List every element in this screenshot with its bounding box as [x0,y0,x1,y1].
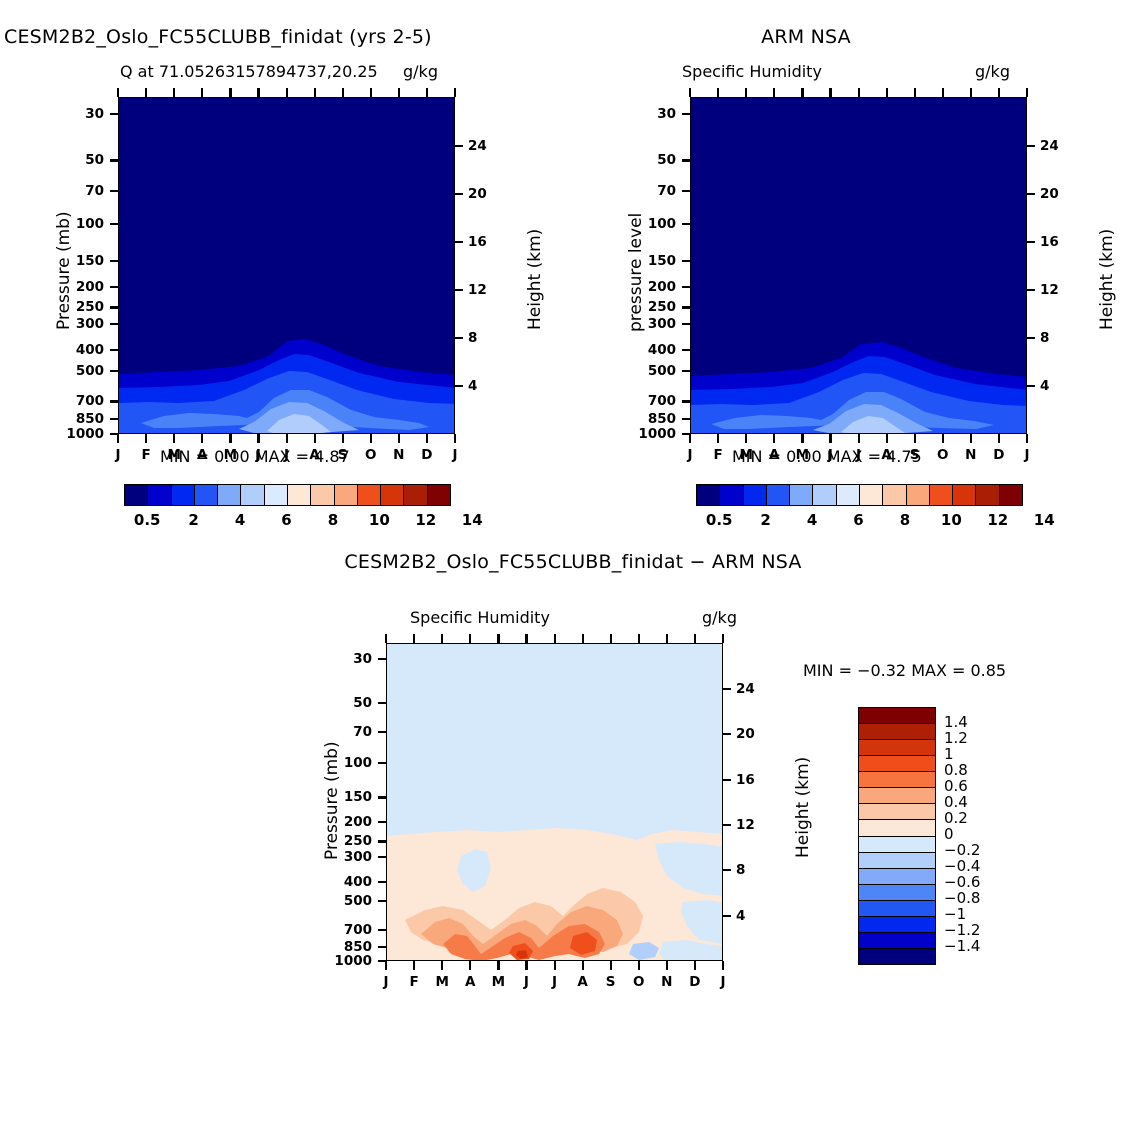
pressure-tick-mark [378,821,386,823]
panel-model-contour-field [119,98,455,434]
height-tick-label: 8 [736,862,745,878]
month-tick-mark [886,434,888,443]
month-tick-mark [666,634,668,643]
month-tick-mark [1026,434,1028,443]
colorbar-label: 4 [235,511,245,529]
colorbar-cell [930,485,953,505]
month-label: M [435,974,448,990]
pressure-tick-label: 850 [648,411,676,427]
height-tick-label: 24 [736,681,755,697]
month-tick-mark [385,961,387,970]
colorbar-cell [859,885,935,901]
pressure-tick-label: 700 [344,922,372,938]
panel-difference-ylabel-right: Height (km) [793,757,813,858]
pressure-tick-mark [110,286,118,288]
colorbar-cell [859,740,935,756]
colorbar-cell [859,837,935,853]
month-label: M [224,447,237,463]
month-label: J [720,974,725,990]
pressure-tick-label: 300 [648,316,676,332]
height-tick-mark [455,289,463,291]
colorbar-cell [859,917,935,933]
month-label: J [383,974,388,990]
colorbar-cell [859,708,935,724]
month-tick-mark [610,634,612,643]
pressure-tick-label: 70 [353,724,372,740]
panel-difference-colorbar[interactable] [858,707,936,965]
month-label: A [769,447,779,463]
colorbar-cell [859,949,935,964]
pressure-tick-label: 850 [76,411,104,427]
colorbar-cell [381,485,404,505]
month-tick-mark [145,434,147,443]
month-label: J [452,447,457,463]
colorbar-cell [859,901,935,917]
colorbar-cell [859,869,935,885]
month-tick-mark [1026,88,1028,97]
colorbar-cell [241,485,264,505]
pressure-tick-mark [110,418,118,420]
pressure-tick-mark [110,323,118,325]
month-label: J [524,974,529,990]
month-label: S [338,447,348,463]
pressure-tick-mark [378,946,386,948]
colorbar-cell [859,933,935,949]
pressure-tick-label: 30 [353,651,372,667]
pressure-tick-label: 250 [344,833,372,849]
height-tick-label: 20 [468,186,487,202]
panel-obs-title: ARM NSA [761,26,851,48]
panel-difference-ylabel-left: Pressure (mb) [322,741,342,860]
month-tick-mark [469,634,471,643]
panel-model-colorbar[interactable] [124,484,451,506]
pressure-tick-mark [110,159,118,161]
pressure-tick-label: 100 [76,216,104,232]
month-label: O [633,974,644,990]
colorbar-cell [767,485,790,505]
month-tick-mark [342,434,344,443]
month-tick-mark [257,88,259,97]
pressure-tick-mark [682,370,690,372]
colorbar-cell [859,788,935,804]
month-tick-mark [858,434,860,443]
month-label: S [606,974,616,990]
height-tick-mark [455,337,463,339]
month-label: J [856,447,861,463]
month-label: J [687,447,692,463]
colorbar-label: 10 [941,511,962,529]
pressure-tick-mark [378,840,386,842]
month-tick-mark [829,434,831,443]
height-tick-mark [455,385,463,387]
month-label: A [197,447,207,463]
pressure-tick-label: 300 [344,849,372,865]
colorbar-cell [428,485,450,505]
colorbar-label: 2 [760,511,770,529]
pressure-tick-label: 500 [76,363,104,379]
pressure-tick-mark [378,731,386,733]
colorbar-cell [790,485,813,505]
panel-obs-contour-field [691,98,1027,434]
month-label: F [713,447,722,463]
month-tick-mark [717,434,719,443]
pressure-tick-label: 250 [648,299,676,315]
colorbar-cell [907,485,930,505]
colorbar-cell [172,485,195,505]
month-tick-mark [722,634,724,643]
panel-difference-units: g/kg [702,608,737,627]
colorbar-label: 14 [1034,511,1055,529]
pressure-tick-mark [682,190,690,192]
month-label: N [661,974,672,990]
height-tick-label: 24 [1040,138,1059,154]
pressure-tick-mark [378,796,386,798]
pressure-tick-label: 250 [76,299,104,315]
month-tick-mark [286,434,288,443]
month-tick-mark [257,434,259,443]
month-tick-mark [173,434,175,443]
pressure-tick-label: 1000 [334,953,372,969]
month-tick-mark [314,88,316,97]
pressure-tick-mark [682,159,690,161]
month-tick-mark [525,634,527,643]
height-tick-label: 16 [736,772,755,788]
colorbar-cell [859,820,935,836]
month-tick-mark [398,88,400,97]
month-tick-mark [370,88,372,97]
panel-model-units: g/kg [403,62,438,81]
month-tick-mark [998,88,1000,97]
height-tick-label: 24 [468,138,487,154]
month-label: M [492,974,505,990]
pressure-tick-label: 50 [657,152,676,168]
height-tick-mark [723,779,731,781]
colorbar-cell [265,485,288,505]
pressure-tick-label: 400 [344,874,372,890]
month-tick-mark [942,434,944,443]
month-tick-mark [454,434,456,443]
pressure-tick-label: 1000 [66,426,104,442]
panel-obs-ylabel-left: pressure level [626,213,646,332]
month-tick-mark [286,88,288,97]
pressure-tick-mark [682,113,690,115]
height-tick-mark [723,824,731,826]
pressure-tick-mark [682,260,690,262]
height-tick-mark [1027,145,1035,147]
height-tick-mark [723,869,731,871]
pressure-tick-mark [378,900,386,902]
colorbar-cell [859,756,935,772]
panel-difference-plot-area[interactable] [386,643,723,961]
month-label: J [256,447,261,463]
month-tick-mark [370,434,372,443]
pressure-tick-mark [378,762,386,764]
pressure-tick-label: 300 [76,316,104,332]
month-label: D [689,974,700,990]
colorbar-cell [195,485,218,505]
colorbar-label: 8 [328,511,338,529]
height-tick-label: 8 [1040,330,1049,346]
month-tick-mark [469,961,471,970]
colorbar-cell [859,853,935,869]
month-tick-mark [554,961,556,970]
colorbar-cell [697,485,720,505]
month-tick-mark [689,88,691,97]
pressure-tick-mark [378,856,386,858]
colorbar-label: 0.5 [706,511,733,529]
panel-obs-colorbar[interactable] [696,484,1023,506]
colorbar-label: 6 [853,511,863,529]
panel-difference-minmax: MIN = −0.32 MAX = 0.85 [803,661,1006,680]
height-tick-mark [1027,337,1035,339]
month-tick-mark [914,88,916,97]
colorbar-label: 2 [188,511,198,529]
month-label: M [167,447,180,463]
month-tick-mark [342,88,344,97]
month-label: S [910,447,920,463]
month-tick-mark [998,434,1000,443]
colorbar-label: 12 [987,511,1008,529]
month-tick-mark [441,634,443,643]
pressure-tick-label: 150 [344,789,372,805]
height-tick-label: 12 [736,817,755,833]
colorbar-cell [813,485,836,505]
month-tick-mark [773,88,775,97]
month-tick-mark [145,88,147,97]
colorbar-cell [744,485,767,505]
month-label: J [828,447,833,463]
pressure-tick-mark [682,323,690,325]
month-label: M [739,447,752,463]
pressure-tick-mark [110,190,118,192]
month-label: A [309,447,319,463]
pressure-tick-label: 30 [85,106,104,122]
colorbar-label: 0.5 [134,511,161,529]
panel-obs-subtitle-left: Specific Humidity [682,62,822,81]
month-label: D [421,447,432,463]
panel-model-subtitle-left: Q at 71.05263157894737,20.25 [120,62,378,81]
panel-obs-ylabel-right: Height (km) [1097,229,1117,330]
colorbar-cell [1000,485,1022,505]
pressure-tick-mark [110,400,118,402]
colorbar-label: 12 [415,511,436,529]
pressure-tick-mark [682,306,690,308]
colorbar-cell [860,485,883,505]
pressure-tick-label: 200 [76,279,104,295]
month-tick-mark [201,434,203,443]
month-tick-mark [173,88,175,97]
panel-model-title: CESM2B2_Oslo_FC55CLUBB_finidat (yrs 2-5) [4,26,432,48]
month-tick-mark [554,634,556,643]
month-tick-mark [801,434,803,443]
height-tick-mark [723,688,731,690]
pressure-tick-label: 70 [657,183,676,199]
colorbar-cell [335,485,358,505]
colorbar-cell [218,485,241,505]
height-tick-mark [1027,289,1035,291]
colorbar-cell [311,485,334,505]
panel-model-minmax: MIN = 0.00 MAX = 4.87 [160,447,350,466]
month-tick-mark [970,434,972,443]
month-label: O [365,447,376,463]
pressure-tick-label: 200 [344,814,372,830]
month-label: D [993,447,1004,463]
pressure-tick-mark [378,702,386,704]
month-tick-mark [638,961,640,970]
pressure-tick-label: 200 [648,279,676,295]
month-label: A [465,974,475,990]
height-tick-label: 20 [736,726,755,742]
pressure-tick-mark [378,658,386,660]
month-tick-mark [942,88,944,97]
month-label: J [1024,447,1029,463]
month-tick-mark [385,634,387,643]
month-tick-mark [413,634,415,643]
pressure-tick-label: 50 [353,695,372,711]
panel-model-ylabel-right: Height (km) [525,229,545,330]
month-label: M [796,447,809,463]
month-tick-mark [229,434,231,443]
month-tick-mark [117,434,119,443]
colorbar-cell [953,485,976,505]
colorbar-label: 14 [462,511,483,529]
month-tick-mark [829,88,831,97]
pressure-tick-label: 1000 [638,426,676,442]
height-tick-mark [455,241,463,243]
height-tick-mark [723,733,731,735]
month-tick-mark [454,88,456,97]
pressure-tick-label: 150 [648,253,676,269]
pressure-tick-mark [110,260,118,262]
pressure-tick-mark [682,223,690,225]
month-tick-mark [582,961,584,970]
pressure-tick-label: 70 [85,183,104,199]
pressure-tick-mark [110,113,118,115]
month-tick-mark [914,434,916,443]
month-label: O [937,447,948,463]
month-tick-mark [694,634,696,643]
month-tick-mark [717,88,719,97]
month-tick-mark [745,434,747,443]
colorbar-cell [404,485,427,505]
month-tick-mark [413,961,415,970]
height-tick-label: 4 [1040,378,1049,394]
pressure-tick-mark [110,306,118,308]
month-label: A [577,974,587,990]
colorbar-label: 6 [281,511,291,529]
month-tick-mark [441,961,443,970]
panel-difference-subtitle-left: Specific Humidity [410,608,550,627]
height-tick-label: 16 [468,234,487,250]
panel-model-ylabel-left: Pressure (mb) [54,211,74,330]
colorbar-cell [125,485,148,505]
month-label: A [881,447,891,463]
month-tick-mark [970,88,972,97]
height-tick-label: 4 [736,908,745,924]
month-tick-mark [745,88,747,97]
month-tick-mark [582,634,584,643]
pressure-tick-label: 30 [657,106,676,122]
colorbar-cell [883,485,906,505]
colorbar-cell [720,485,743,505]
month-tick-mark [497,634,499,643]
pressure-tick-mark [110,223,118,225]
height-tick-label: 4 [468,378,477,394]
colorbar-cell [859,772,935,788]
colorbar-cell [358,485,381,505]
month-label: F [409,974,418,990]
month-label: N [393,447,404,463]
month-tick-mark [525,961,527,970]
colorbar-cell [859,724,935,740]
height-tick-mark [1027,385,1035,387]
month-tick-mark [426,434,428,443]
month-label: F [141,447,150,463]
pressure-tick-mark [682,418,690,420]
month-tick-mark [773,434,775,443]
height-tick-label: 8 [468,330,477,346]
pressure-tick-mark [378,881,386,883]
panel-obs-units: g/kg [975,62,1010,81]
height-tick-mark [455,145,463,147]
panel-obs-minmax: MIN = 0.00 MAX = 4.75 [732,447,922,466]
height-tick-label: 12 [1040,282,1059,298]
panel-difference-contour-field [387,644,723,961]
colorbar-label: 8 [900,511,910,529]
month-tick-mark [426,88,428,97]
pressure-tick-label: 700 [648,393,676,409]
height-tick-label: 20 [1040,186,1059,202]
colorbar-cell [976,485,999,505]
month-tick-mark [638,634,640,643]
height-tick-mark [723,915,731,917]
height-tick-label: 12 [468,282,487,298]
month-tick-mark [398,434,400,443]
pressure-tick-label: 50 [85,152,104,168]
colorbar-cell [837,485,860,505]
height-tick-mark [1027,241,1035,243]
height-tick-mark [1027,193,1035,195]
pressure-tick-mark [110,349,118,351]
month-tick-mark [858,88,860,97]
pressure-tick-mark [682,286,690,288]
panel-obs-plot-area[interactable] [690,97,1027,434]
pressure-tick-mark [378,929,386,931]
month-tick-mark [201,88,203,97]
colorbar-label: 10 [369,511,390,529]
pressure-tick-mark [110,370,118,372]
month-tick-mark [694,961,696,970]
pressure-tick-label: 100 [648,216,676,232]
colorbar-cell [859,804,935,820]
pressure-tick-label: 400 [648,342,676,358]
height-tick-mark [455,193,463,195]
pressure-tick-label: 100 [344,755,372,771]
colorbar-cell [288,485,311,505]
pressure-tick-label: 150 [76,253,104,269]
month-tick-mark [801,88,803,97]
pressure-tick-label: 400 [76,342,104,358]
pressure-tick-label: 500 [648,363,676,379]
month-tick-mark [886,88,888,97]
month-label: J [552,974,557,990]
panel-difference-title: CESM2B2_Oslo_FC55CLUBB_finidat − ARM NSA [344,551,801,573]
month-label: J [284,447,289,463]
pressure-tick-mark [682,400,690,402]
panel-model-plot-area[interactable] [118,97,455,434]
month-tick-mark [666,961,668,970]
colorbar-label: 4 [807,511,817,529]
